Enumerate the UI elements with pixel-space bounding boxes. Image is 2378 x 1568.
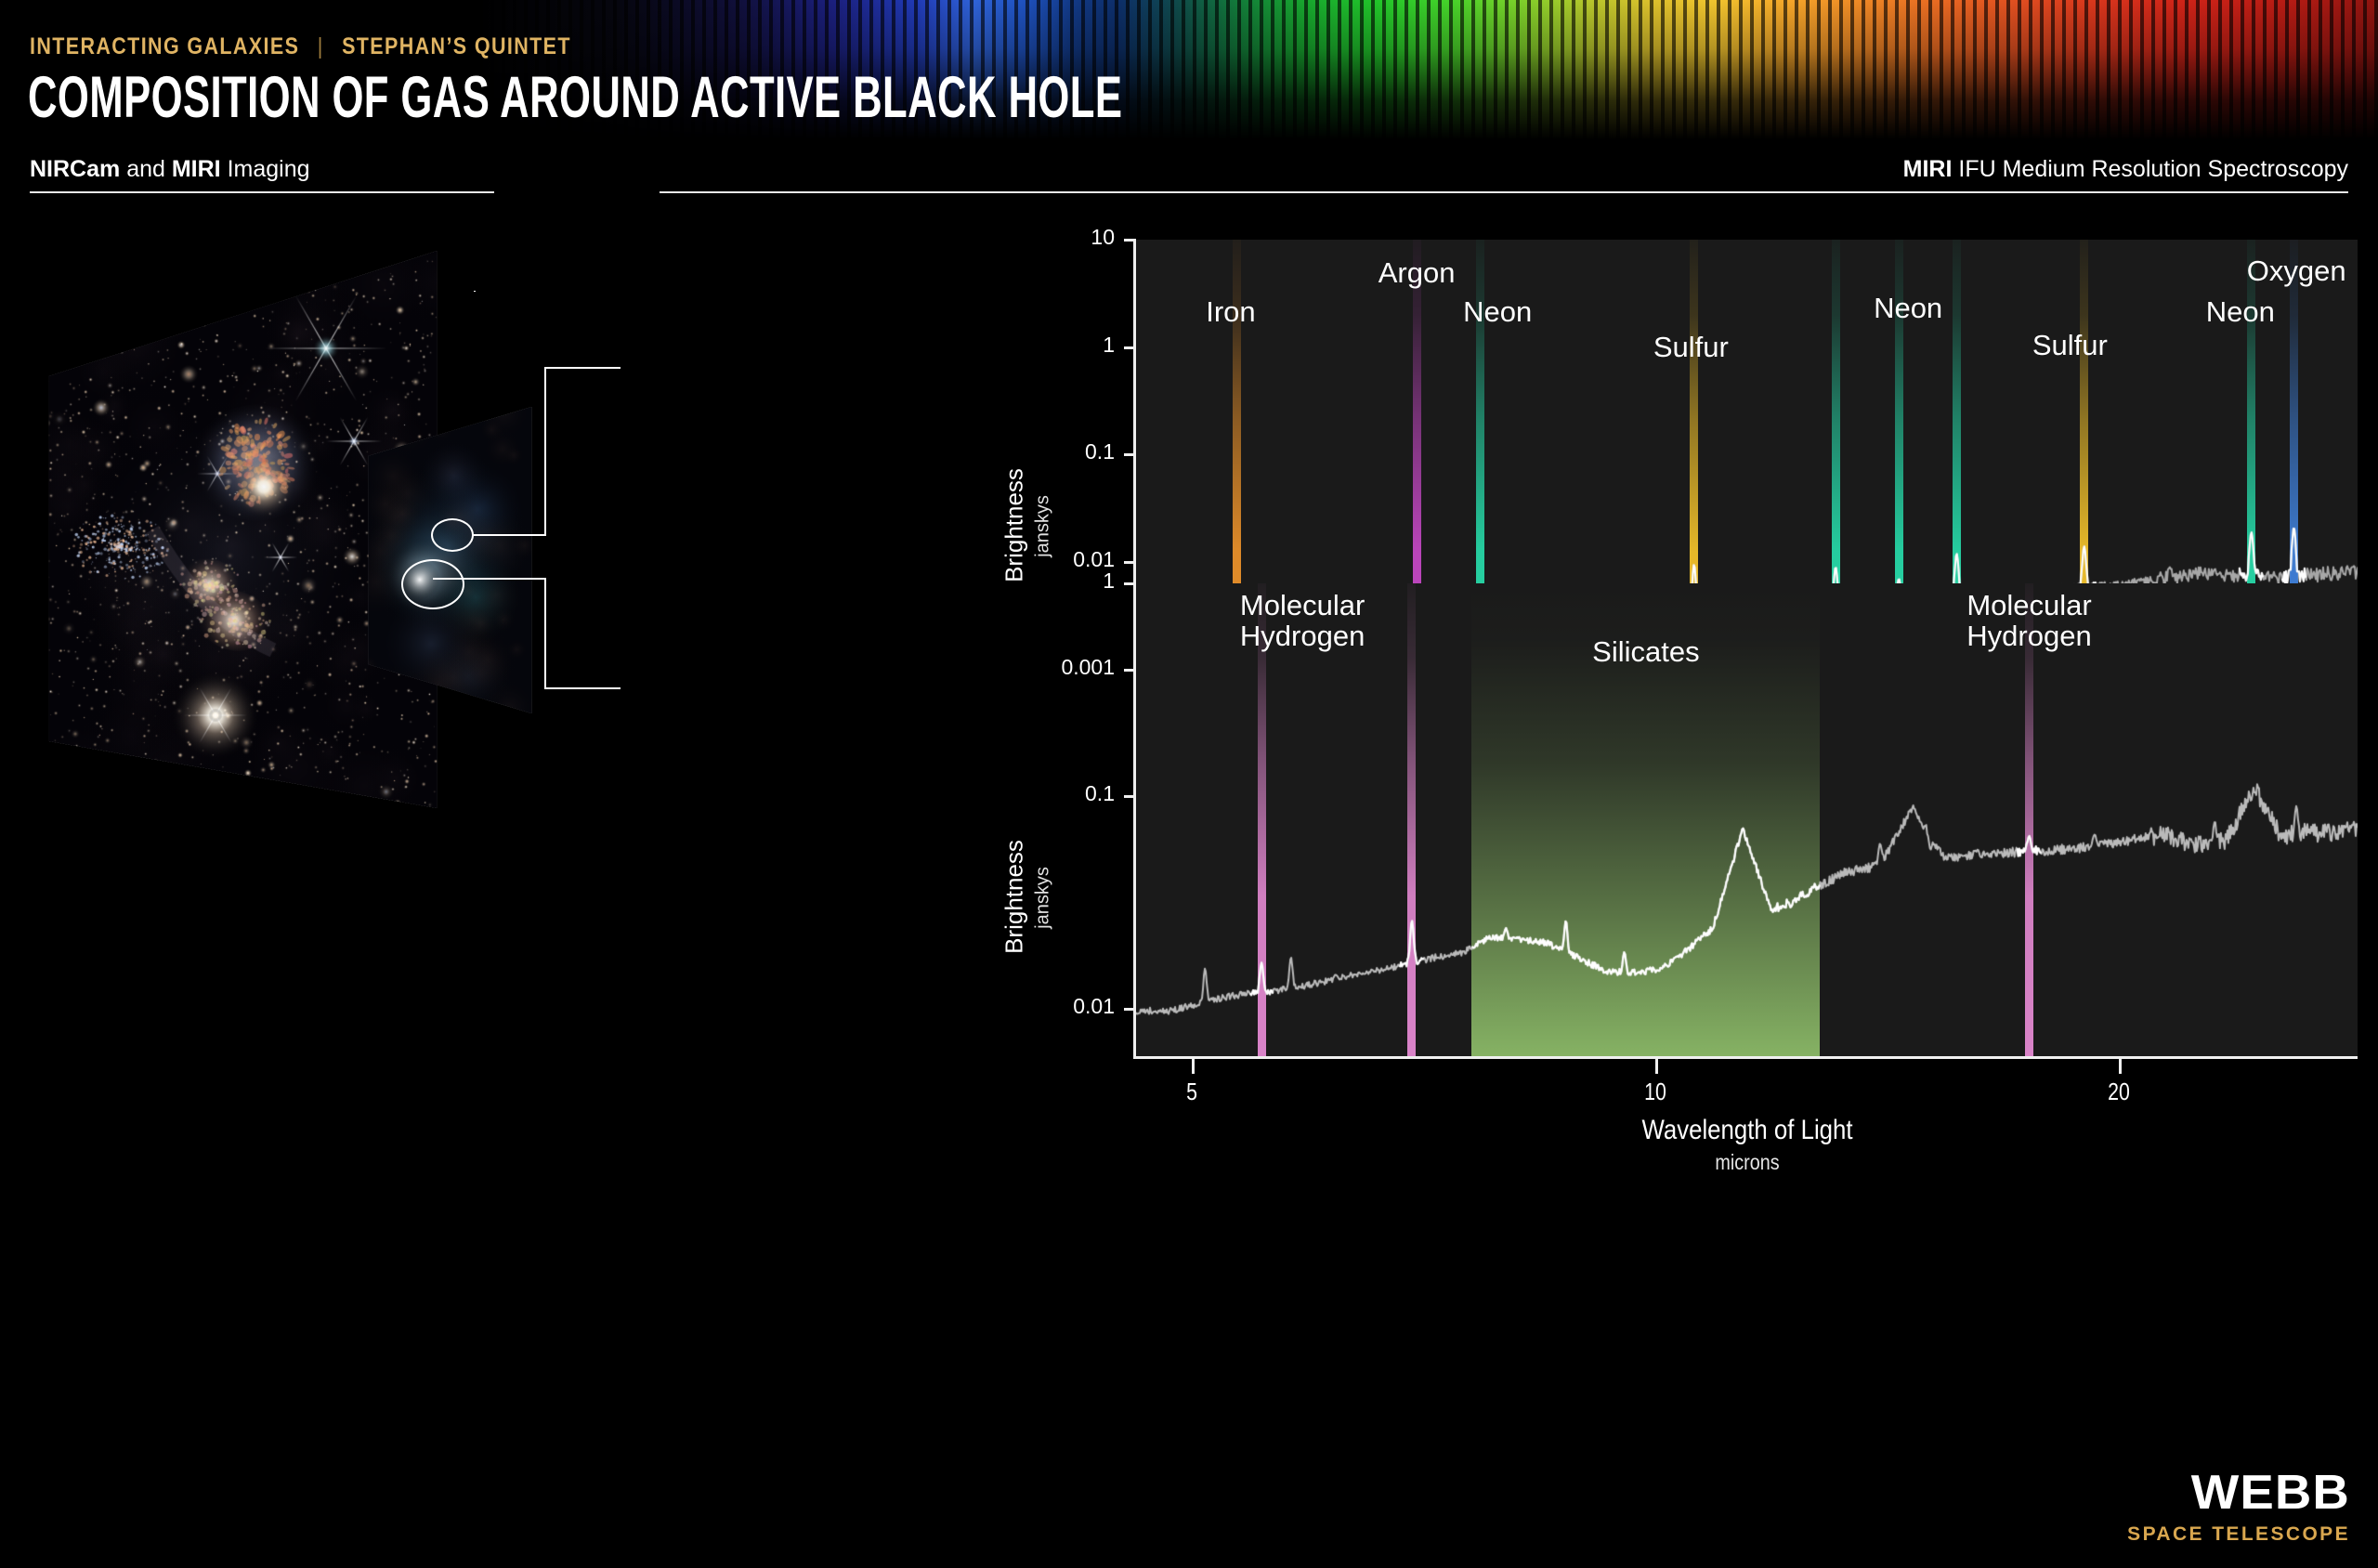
imaging-panel-group (37, 243, 557, 834)
small-aperture-circle (431, 518, 474, 552)
y-tick-mark (1124, 453, 1136, 456)
gas-label-line: Molecular (1163, 591, 1442, 621)
bottom-spectrum-chart: Brightness janskys 10.10.01 51020 Molecu… (966, 576, 2359, 1263)
leader-large-horizontal (433, 578, 546, 580)
x-tick-label: 5 (1161, 1078, 1222, 1106)
x-tick-mark (1655, 1059, 1658, 1074)
bottom-chart-x-axis-title: Wavelength of Light (1627, 1115, 1867, 1146)
gas-label-neon: Neon (1769, 294, 2047, 324)
gas-label-line: Iron (1091, 297, 1370, 328)
x-tick-label: 10 (1625, 1078, 1686, 1106)
active-black-hole-inset-image (366, 407, 533, 713)
y-tick-label: 10 (985, 225, 1115, 250)
bottom-chart-x-axis-units: microns (1627, 1150, 1867, 1175)
webb-logo-tagline: SPACE TELESCOPE (2127, 1523, 2350, 1546)
eyebrow-object-name: STEPHAN’S QUINTET (342, 33, 571, 59)
y-tick-mark (1124, 582, 1136, 585)
leader-small-to-top-chart (544, 367, 621, 369)
right-section-caption: MIRI IFU Medium Resolution Spectroscopy (1903, 156, 2348, 183)
x-tick-label: 20 (2088, 1078, 2149, 1106)
gas-label-line: Sulfur (1551, 333, 1830, 363)
large-aperture-circle (401, 559, 464, 609)
gas-label-line: Hydrogen (1890, 621, 2169, 652)
leader-seg (474, 291, 476, 292)
webb-logo-wordmark: WEBB (2116, 1465, 2350, 1521)
gas-label-line: Neon (1769, 294, 2047, 324)
eyebrow-category: INTERACTING GALAXIES (30, 33, 299, 59)
y-tick-label: 1 (985, 333, 1115, 358)
gas-label-molecular_hydrogen: MolecularHydrogen (1163, 591, 1442, 652)
gas-label-silicates: Silicates (1507, 637, 1785, 668)
gas-label-sulfur: Sulfur (1930, 331, 2209, 361)
leader-small-horizontal (472, 534, 546, 536)
y-tick-label: 0.1 (985, 781, 1115, 806)
bottom-chart-y-axis-title: Brightness (1000, 804, 1029, 990)
gas-label-line: Neon (1358, 297, 1637, 328)
y-tick-label: 0.1 (985, 439, 1115, 464)
gas-label-sulfur: Sulfur (1551, 333, 1830, 363)
gas-label-line: Oxygen (2157, 256, 2378, 287)
bottom-chart-y-axis-units: janskys (1033, 810, 1054, 987)
right-caption-suffix: IFU Medium Resolution Spectroscopy (1952, 156, 2348, 182)
gas-label-line: Sulfur (1930, 331, 2209, 361)
gas-label-argon: Argon (1277, 258, 1556, 289)
y-tick-mark (1124, 561, 1136, 564)
left-caption-conjunction: and (120, 156, 172, 182)
gas-label-line: Neon (2101, 297, 2378, 328)
gas-label-line: Hydrogen (1163, 621, 1442, 652)
y-tick-mark (1124, 1008, 1136, 1011)
leader-small-vertical (544, 367, 546, 536)
x-tick-mark (2119, 1059, 2122, 1074)
left-section-caption: NIRCam and MIRI Imaging (30, 156, 310, 183)
y-tick-label: 1 (985, 568, 1115, 594)
left-caption-suffix: Imaging (221, 156, 310, 182)
gas-label-neon: Neon (2101, 297, 2378, 328)
gas-label-molecular_hydrogen: MolecularHydrogen (1890, 591, 2169, 652)
y-tick-mark (1124, 346, 1136, 349)
y-tick-mark (1124, 795, 1136, 798)
inset-field-canvas (366, 407, 533, 713)
y-tick-label: 0.01 (985, 994, 1115, 1019)
leader-large-to-bottom-chart (544, 687, 621, 689)
left-caption-instrument-1: NIRCam (30, 156, 120, 182)
gas-label-neon: Neon (1358, 297, 1637, 328)
right-caption-instrument: MIRI (1903, 156, 1953, 182)
gas-label-oxygen: Oxygen (2157, 256, 2378, 287)
right-caption-rule (660, 191, 2348, 193)
y-tick-mark (1124, 239, 1136, 242)
gas-label-iron: Iron (1091, 297, 1370, 328)
left-caption-rule (30, 191, 494, 193)
page-title: COMPOSITION OF GAS AROUND ACTIVE BLACK H… (28, 63, 1122, 131)
gas-label-line: Molecular (1890, 591, 2169, 621)
gas-label-line: Silicates (1507, 637, 1785, 668)
eyebrow-separator: | (318, 33, 324, 60)
gas-label-line: Argon (1277, 258, 1556, 289)
x-tick-mark (1192, 1059, 1195, 1074)
webb-logo: WEBB SPACE TELESCOPE (2127, 1465, 2350, 1546)
left-caption-instrument-2: MIRI (172, 156, 221, 182)
leader-large-vertical (544, 578, 546, 689)
eyebrow-label: INTERACTING GALAXIES | STEPHAN’S QUINTET (30, 33, 571, 60)
